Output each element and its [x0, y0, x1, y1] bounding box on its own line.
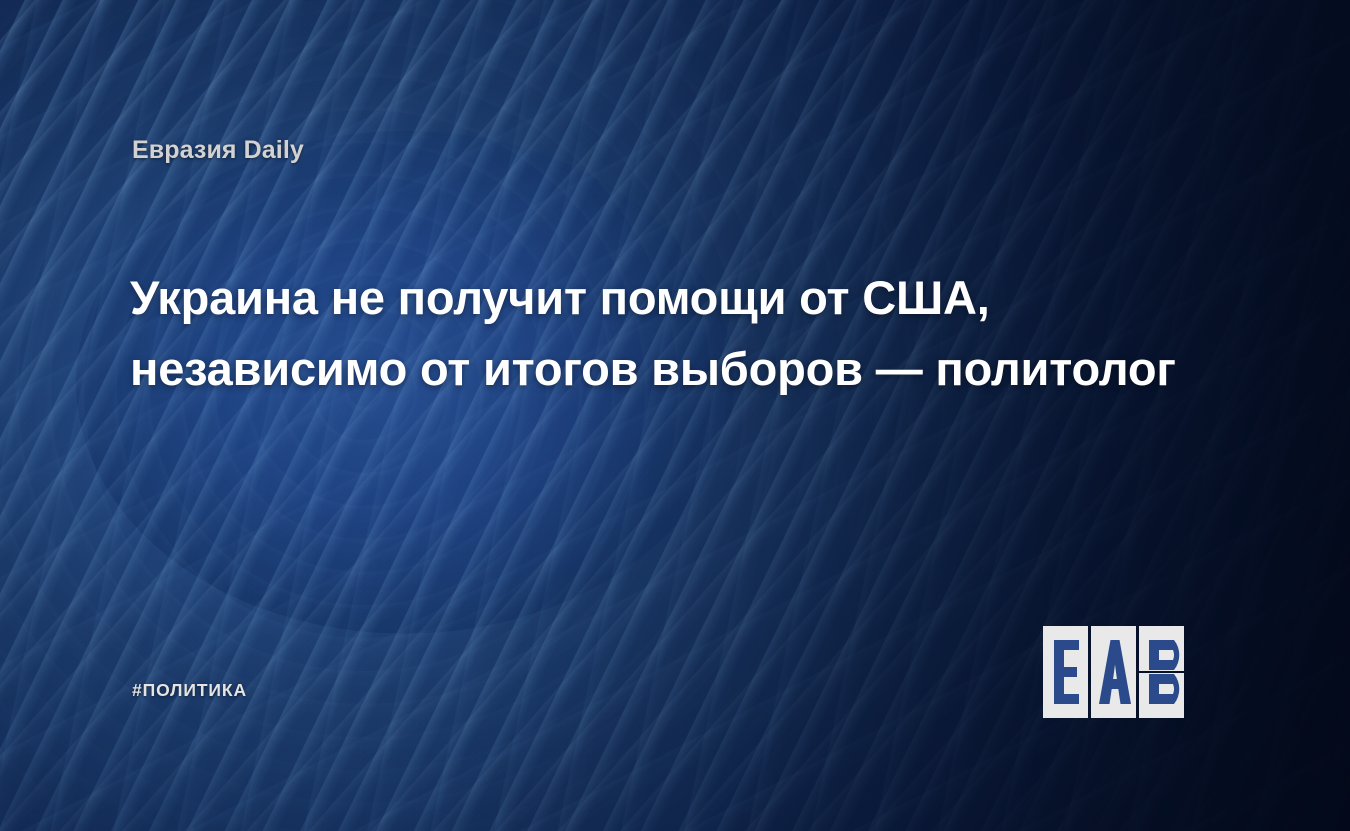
card-content: Евразия Daily Украина не получит помощи … — [0, 0, 1350, 831]
headline: Украина не получит помощи от США, незави… — [130, 262, 1190, 405]
brand-name: Евразия Daily — [132, 136, 304, 165]
news-card: Евразия Daily Украина не получит помощи … — [0, 0, 1350, 831]
ead-logo-svg — [1043, 626, 1221, 718]
category-hashtag[interactable]: #ПОЛИТИКА — [132, 680, 247, 701]
ead-logo — [1043, 626, 1221, 718]
logo-letter-e — [1054, 640, 1079, 704]
